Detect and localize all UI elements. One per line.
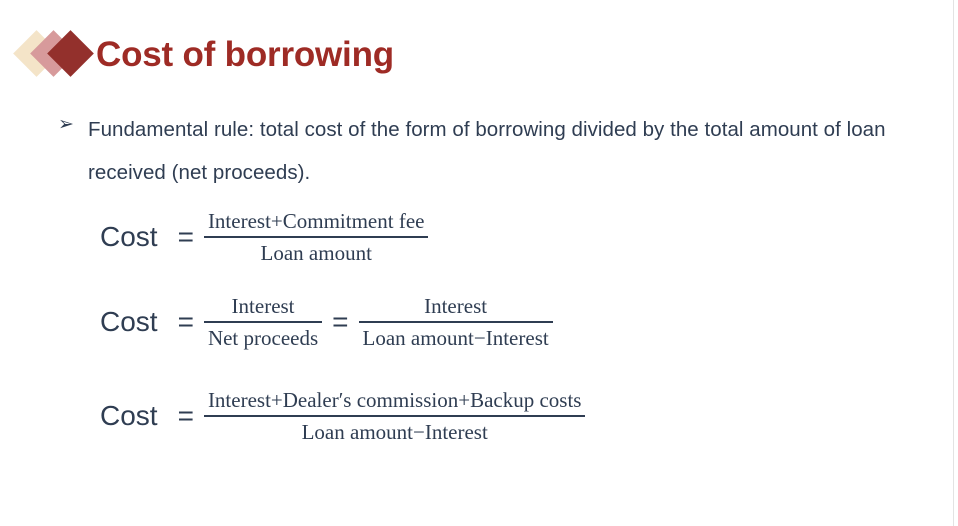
page-title: Cost of borrowing — [96, 37, 394, 72]
equation-3-denominator: Loan amount−Interest — [298, 419, 492, 445]
equation-1-fraction-bar — [204, 236, 429, 238]
equation-3: Cost = Interest+Dealer′s commission+Back… — [100, 387, 585, 445]
equation-2: Cost = Interest Net proceeds = Interest … — [100, 293, 553, 351]
slide-right-rule — [953, 0, 954, 526]
equation-1-fraction: Interest+Commitment fee Loan amount — [204, 208, 429, 266]
equation-1-lhs: Cost — [100, 223, 168, 251]
equation-2-equals-sign: = — [168, 308, 204, 336]
bullet-item: ➢ Fundamental rule: total cost of the fo… — [58, 108, 938, 194]
equation-2-middle-equals-sign: = — [322, 308, 358, 336]
bullet-text: Fundamental rule: total cost of the form… — [88, 108, 888, 194]
equation-2-left-fraction-bar — [204, 321, 322, 323]
equation-1-equals-sign: = — [168, 223, 204, 251]
equation-2-left-numerator: Interest — [228, 293, 299, 319]
equation-2-fraction-right: Interest Loan amount−Interest — [359, 293, 553, 351]
equation-2-left-denominator: Net proceeds — [204, 325, 322, 351]
equation-3-fraction: Interest+Dealer′s commission+Backup cost… — [204, 387, 586, 445]
three-diamonds-icon — [18, 26, 90, 82]
equation-2-fraction-left: Interest Net proceeds — [204, 293, 322, 351]
slide-canvas: Cost of borrowing ➢ Fundamental rule: to… — [0, 0, 958, 526]
equation-1: Cost = Interest+Commitment fee Loan amou… — [100, 208, 428, 266]
equation-1-denominator: Loan amount — [257, 240, 376, 266]
arrow-bullet-icon: ➢ — [58, 108, 88, 141]
slide-header: Cost of borrowing — [18, 24, 394, 84]
equation-2-lhs: Cost — [100, 308, 168, 336]
equation-2-right-denominator: Loan amount−Interest — [359, 325, 553, 351]
equation-3-fraction-bar — [204, 415, 586, 417]
equation-3-equals-sign: = — [168, 402, 204, 430]
equation-3-lhs: Cost — [100, 402, 168, 430]
equation-1-numerator: Interest+Commitment fee — [204, 208, 429, 234]
equation-2-right-fraction-bar — [359, 321, 553, 323]
equation-2-right-numerator: Interest — [420, 293, 491, 319]
equation-3-numerator: Interest+Dealer′s commission+Backup cost… — [204, 387, 586, 413]
